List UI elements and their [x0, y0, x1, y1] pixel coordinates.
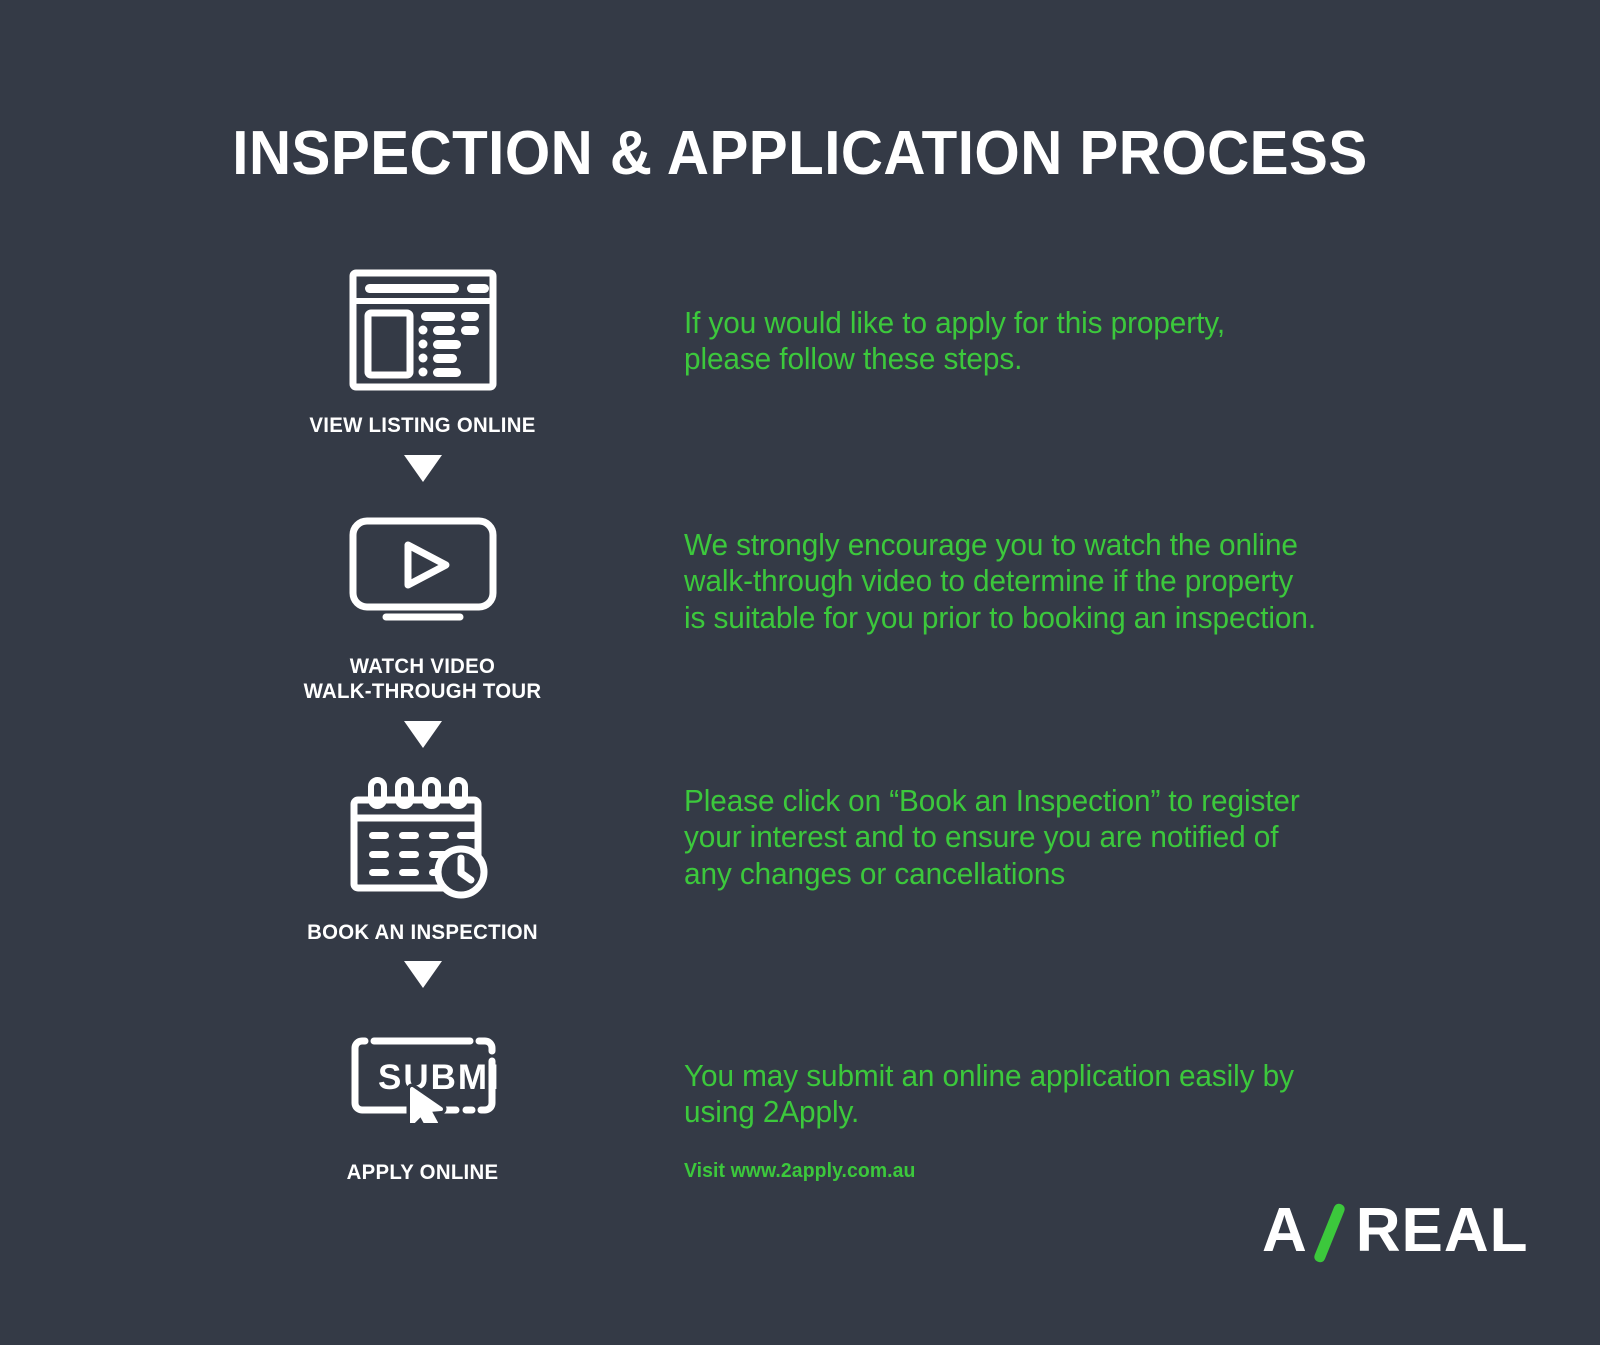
logo-letter-a: A [1262, 1195, 1308, 1266]
step-label-apply-online: APPLY ONLINE [255, 1160, 590, 1186]
browser-listing-icon [250, 255, 595, 405]
chevron-down-triangle-icon-1 [250, 455, 595, 482]
step-apply-online: SUBMIT APPLY ONLINE [250, 1002, 595, 1186]
step-label-book-inspection: BOOK AN INSPECTION [255, 920, 590, 946]
visit-2apply-link[interactable]: Visit www.2apply.com.au [684, 1160, 916, 1183]
video-play-monitor-icon [250, 496, 595, 646]
step-label-watch-video: WATCH VIDEO WALK-THROUGH TOUR [255, 654, 590, 705]
logo-word-real: REAL [1356, 1195, 1529, 1266]
copy-watch-video: We strongly encourage you to watch the o… [684, 527, 1433, 636]
step-watch-video: WATCH VIDEO WALK-THROUGH TOUR [250, 496, 595, 705]
copy-book-inspection: Please click on “Book an Inspection” to … [684, 783, 1414, 892]
areal-logo: A REAL [1262, 1195, 1529, 1266]
green-slash-icon [1310, 1200, 1354, 1262]
chevron-down-triangle-icon-3 [250, 961, 595, 988]
chevron-down-triangle-icon-2 [250, 721, 595, 748]
process-steps-column: VIEW LISTING ONLINE WATCH VIDEO WALK-THR… [250, 255, 595, 1186]
submit-button-cursor-icon: SUBMIT [250, 1002, 595, 1152]
step-view-listing-online: VIEW LISTING ONLINE [250, 255, 595, 439]
inspection-application-poster: INSPECTION & APPLICATION PROCESS [0, 0, 1600, 1345]
copy-view-listing: If you would like to apply for this prop… [684, 305, 1414, 378]
step-book-inspection: BOOK AN INSPECTION [250, 762, 595, 946]
copy-apply-online: You may submit an online application eas… [684, 1058, 1414, 1131]
page-title: INSPECTION & APPLICATION PROCESS [48, 118, 1552, 189]
svg-text:SUBMIT: SUBMIT [378, 1058, 498, 1097]
step-label-view-listing: VIEW LISTING ONLINE [255, 413, 590, 439]
calendar-clock-icon [250, 762, 595, 912]
